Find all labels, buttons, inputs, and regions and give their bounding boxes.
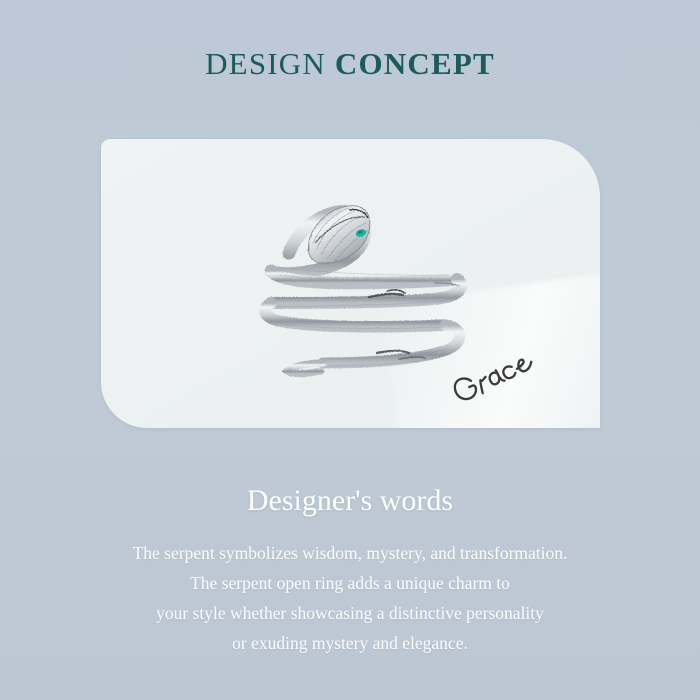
serpent-sketch-illustration xyxy=(249,191,479,391)
designer-words-body: The serpent symbolizes wisdom, mystery, … xyxy=(0,538,700,658)
grace-handwriting xyxy=(448,344,568,404)
designer-words-line: your style whether showcasing a distinct… xyxy=(0,598,700,628)
design-concept-card xyxy=(101,139,600,428)
designer-words-line: The serpent open ring adds a unique char… xyxy=(0,568,700,598)
page-root: DESIGN CONCEPT xyxy=(0,0,700,700)
designer-words-heading: Designer's words xyxy=(0,484,700,517)
designer-words-line: or exuding mystery and elegance. xyxy=(0,628,700,658)
designer-words-line: The serpent symbolizes wisdom, mystery, … xyxy=(0,538,700,568)
card-inner xyxy=(101,139,600,428)
page-title-light: DESIGN xyxy=(205,46,326,81)
page-title: DESIGN CONCEPT xyxy=(0,48,700,79)
page-title-bold: CONCEPT xyxy=(335,46,495,81)
